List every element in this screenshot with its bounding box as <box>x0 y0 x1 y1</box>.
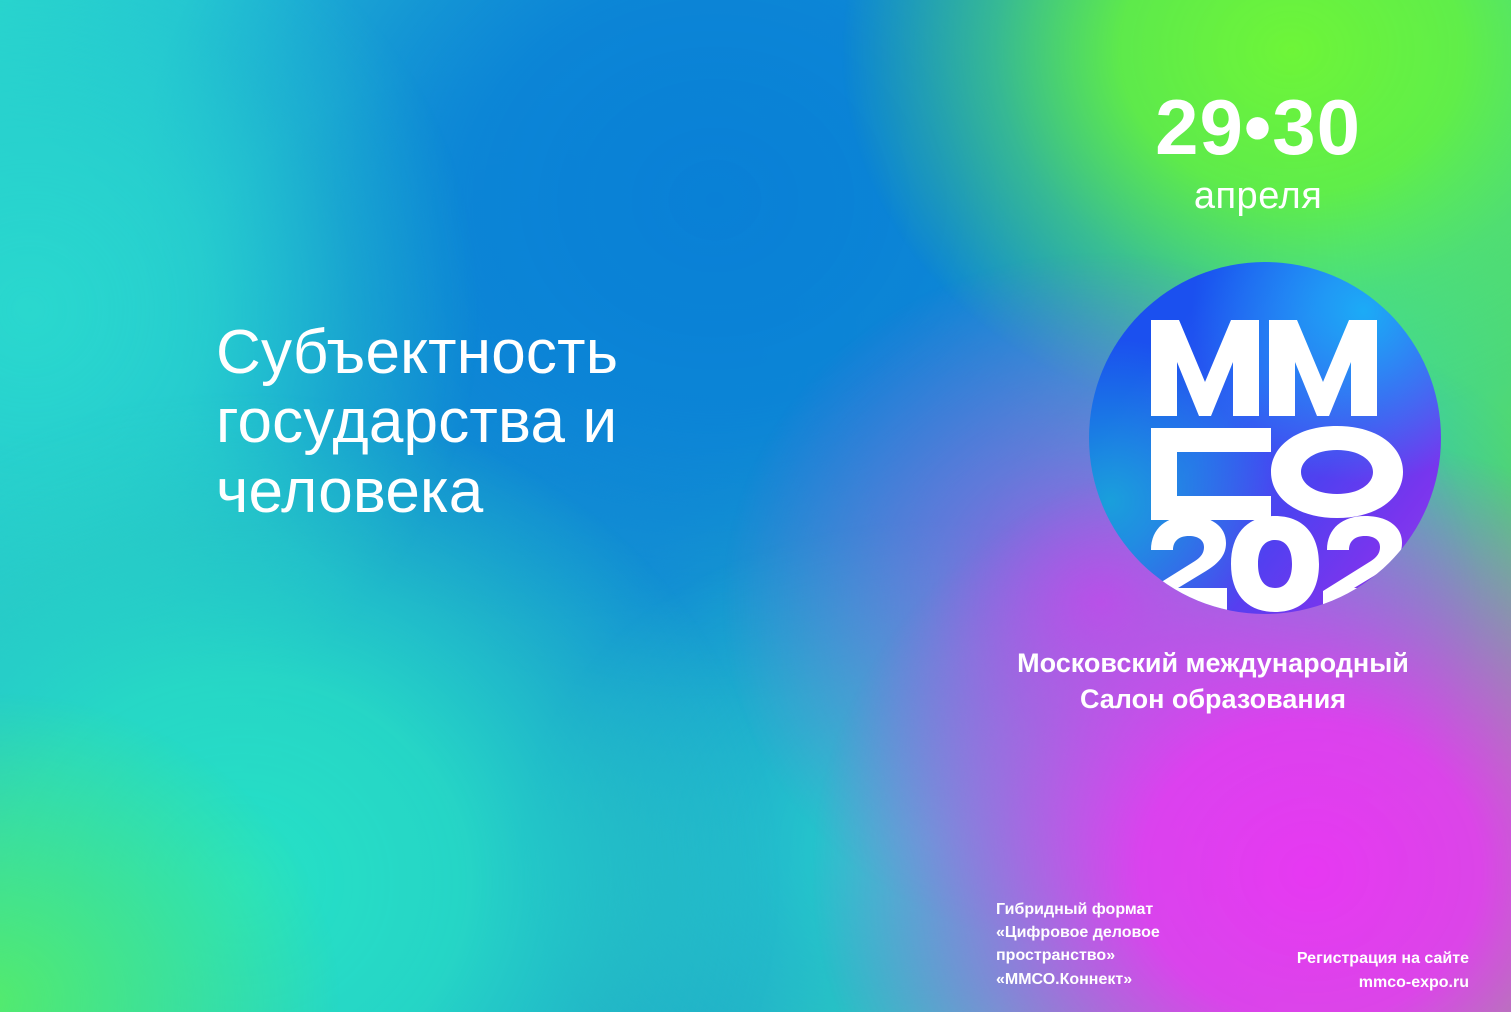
event-format-note: Гибридный формат «Цифровое деловое прост… <box>996 898 1160 991</box>
event-date-month: апреля <box>1155 176 1361 218</box>
poster-content: Субъектность государства и человека 29•3… <box>0 0 1511 1012</box>
poster-title: Субъектность государства и человека <box>216 318 836 526</box>
event-date-days: 29•30 <box>1155 88 1361 166</box>
event-date: 29•30 апреля <box>1155 88 1361 218</box>
registration-note: Регистрация на сайте mmco-expo.ru <box>1297 947 1469 995</box>
mmco-logo-mark-icon <box>1089 262 1441 614</box>
mmco-logo <box>1089 262 1441 614</box>
logo-circle-background <box>1089 262 1441 614</box>
poster-canvas: Субъектность государства и человека 29•3… <box>0 0 1511 1012</box>
organization-name: Московский международный Салон образован… <box>953 646 1473 717</box>
